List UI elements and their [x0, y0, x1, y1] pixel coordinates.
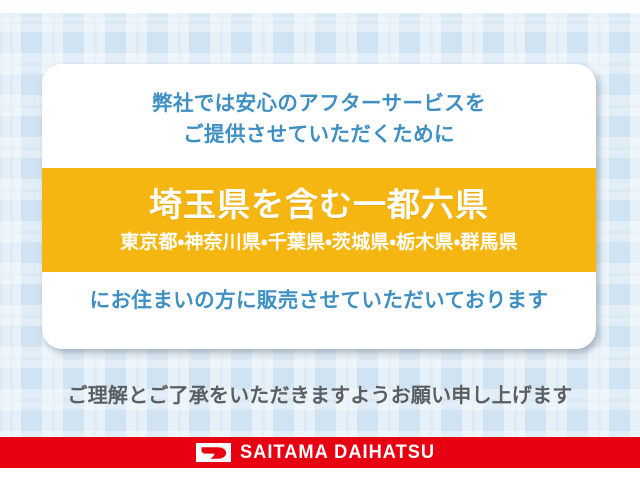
region-highlight-band: 埼玉県を含む一都六県 東京都・神奈川県・千葉県・茨城県・栃木県・群馬県: [42, 168, 596, 272]
brand-name-text: SAITAMA DAIHATSU: [240, 443, 435, 462]
background-top-fade: [0, 0, 640, 13]
notice-screen: 弊社では安心のアフターサービスを ご提供させていただくために 埼玉県を含む一都六…: [0, 0, 640, 480]
notice-card: 弊社では安心のアフターサービスを ご提供させていただくために 埼玉県を含む一都六…: [42, 64, 596, 349]
card-closing-text: にお住まいの方に販売させていただいております: [42, 287, 596, 315]
card-lead-line-2: ご提供させていただくために: [42, 119, 596, 150]
card-lead-line-1: 弊社では安心のアフターサービスを: [42, 88, 596, 119]
region-headline: 埼玉県を含む一都六県: [149, 185, 489, 225]
prefecture-list: 東京都・神奈川県・千葉県・茨城県・栃木県・群馬県: [120, 231, 518, 255]
footer-white-strip: [0, 468, 640, 480]
footer-bar: SAITAMA DAIHATSU: [0, 437, 640, 468]
daihatsu-d-mark-icon: [196, 443, 231, 462]
card-lead-text: 弊社では安心のアフターサービスを ご提供させていただくために: [42, 88, 596, 150]
brand-lockup: SAITAMA DAIHATSU: [196, 443, 443, 462]
outer-note-text: ご理解とご了承をいただきますようお願い申し上げます: [0, 379, 640, 408]
